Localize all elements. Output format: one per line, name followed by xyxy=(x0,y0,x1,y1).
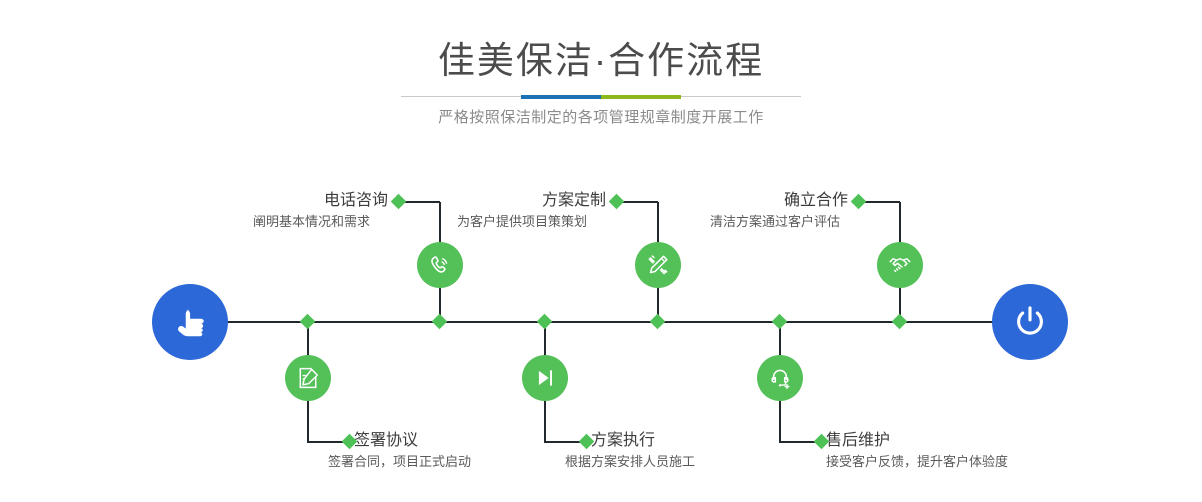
document-edit-icon xyxy=(295,365,321,391)
phone-call-icon xyxy=(427,252,453,278)
step-node-3[interactable] xyxy=(522,355,568,401)
step-node-1[interactable] xyxy=(285,355,331,401)
step-title-6: 确立合作 xyxy=(718,191,848,211)
page-title: 佳美保洁·合作流程 xyxy=(0,38,1202,84)
axis-diamond-step-4 xyxy=(650,314,666,330)
label-diamond-step-2 xyxy=(391,194,407,210)
axis-diamond-step-1 xyxy=(300,314,316,330)
step-subtitle-2: 阐明基本情况和需求 xyxy=(253,213,370,231)
step-title-2: 电话咨询 xyxy=(258,191,388,211)
label-diamond-step-4 xyxy=(609,194,625,210)
label-diamond-step-6 xyxy=(851,194,867,210)
axis-diamond-step-5 xyxy=(772,314,788,330)
end-node[interactable] xyxy=(992,284,1068,360)
step-subtitle-5: 接受客户反馈，提升客户体验度 xyxy=(826,453,1008,471)
step-subtitle-3: 根据方案安排人员施工 xyxy=(565,453,695,471)
pencil-ruler-icon xyxy=(645,252,671,278)
axis-diamond-step-2 xyxy=(432,314,448,330)
play-execute-icon xyxy=(532,365,558,391)
step-title-4: 方案定制 xyxy=(476,191,606,211)
step-node-2[interactable] xyxy=(417,242,463,288)
step-node-4[interactable] xyxy=(635,242,681,288)
headset-support-icon xyxy=(767,365,793,391)
step-node-5[interactable] xyxy=(757,355,803,401)
divider-green-segment xyxy=(601,95,681,99)
step-title-1: 签署协议 xyxy=(354,431,418,451)
power-icon xyxy=(1009,301,1051,343)
step-title-5: 售后维护 xyxy=(826,431,890,451)
divider-blue-segment xyxy=(521,95,601,99)
start-node[interactable] xyxy=(152,284,228,360)
page-subtitle: 严格按照保洁制定的各项管理规章制度开展工作 xyxy=(0,106,1202,130)
step-subtitle-4: 为客户提供项目策策划 xyxy=(457,213,587,231)
flow-diagram-canvas: 佳美保洁·合作流程 严格按照保洁制定的各项管理规章制度开展工作 xyxy=(0,0,1202,502)
title-divider xyxy=(401,95,801,99)
step-node-6[interactable] xyxy=(877,242,923,288)
step-title-3: 方案执行 xyxy=(591,431,655,451)
axis-diamond-step-6 xyxy=(892,314,908,330)
pointing-hand-icon xyxy=(170,302,210,342)
step-subtitle-6: 清洁方案通过客户评估 xyxy=(710,213,840,231)
handshake-icon xyxy=(887,252,913,278)
step-subtitle-1: 签署合同，项目正式启动 xyxy=(328,453,471,471)
axis-diamond-step-3 xyxy=(537,314,553,330)
